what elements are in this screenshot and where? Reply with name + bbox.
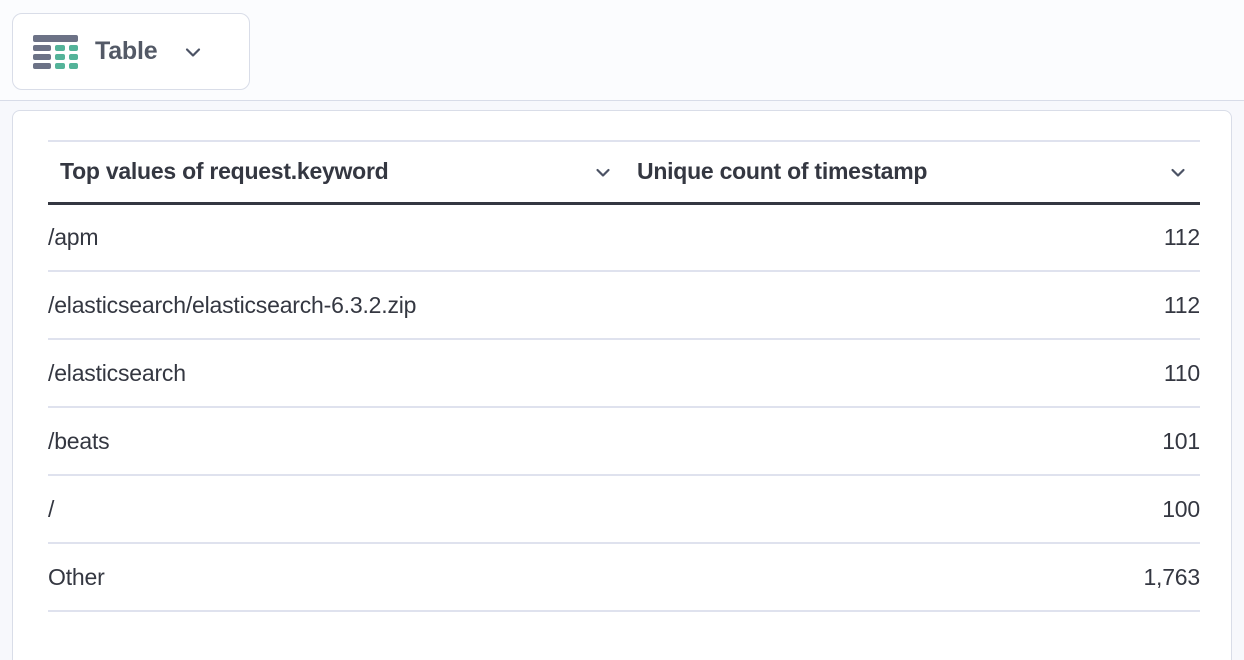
table-row[interactable]: /beats 101	[48, 407, 1200, 475]
cell-term: /elasticsearch/elasticsearch-6.3.2.zip	[48, 271, 625, 339]
cell-value: 100	[625, 475, 1200, 543]
cell-term: /	[48, 475, 625, 543]
table-icon-header-bar	[33, 35, 78, 42]
cell-term: /apm	[48, 203, 625, 271]
table-icon-cell	[55, 63, 64, 69]
visualization-type-label: Table	[95, 37, 157, 66]
table-icon-cell	[69, 54, 78, 60]
chevron-down-icon[interactable]	[1166, 160, 1190, 184]
cell-value: 1,763	[625, 543, 1200, 611]
cell-value: 112	[625, 271, 1200, 339]
data-table: Top values of request.keyword Unique cou…	[48, 140, 1200, 612]
chevron-down-icon[interactable]	[591, 160, 615, 184]
table-icon-cell	[69, 45, 78, 51]
table-icon-row	[33, 54, 78, 60]
table-row[interactable]: Other 1,763	[48, 543, 1200, 611]
table-icon-row	[33, 63, 78, 69]
column-header-value[interactable]: Unique count of timestamp	[625, 141, 1200, 203]
cell-term: Other	[48, 543, 625, 611]
table-icon	[33, 35, 78, 69]
table-row[interactable]: / 100	[48, 475, 1200, 543]
table-body: /apm 112 /elasticsearch/elasticsearch-6.…	[48, 203, 1200, 611]
visualization-toolbar: Table	[0, 0, 1244, 101]
column-header-term-label: Top values of request.keyword	[60, 158, 581, 185]
visualization-panel: Top values of request.keyword Unique cou…	[12, 110, 1232, 660]
table-row[interactable]: /apm 112	[48, 203, 1200, 271]
cell-value: 110	[625, 339, 1200, 407]
table-header: Top values of request.keyword Unique cou…	[48, 141, 1200, 203]
cell-value: 101	[625, 407, 1200, 475]
table-icon-cell	[69, 63, 78, 69]
app-root: Table Top values of request.keyword	[0, 0, 1244, 660]
chevron-down-icon	[180, 39, 206, 65]
cell-term: /elasticsearch	[48, 339, 625, 407]
visualization-type-button[interactable]: Table	[12, 13, 250, 90]
table-row[interactable]: /elasticsearch/elasticsearch-6.3.2.zip 1…	[48, 271, 1200, 339]
column-header-term[interactable]: Top values of request.keyword	[48, 141, 625, 203]
cell-value: 112	[625, 203, 1200, 271]
table-icon-row	[33, 45, 78, 51]
table-container: Top values of request.keyword Unique cou…	[48, 140, 1200, 612]
column-header-value-label: Unique count of timestamp	[637, 158, 1156, 185]
table-icon-cell	[33, 45, 51, 51]
table-icon-cell	[33, 63, 51, 69]
table-header-row: Top values of request.keyword Unique cou…	[48, 141, 1200, 203]
table-icon-cell	[33, 54, 51, 60]
table-row[interactable]: /elasticsearch 110	[48, 339, 1200, 407]
table-icon-cell	[55, 54, 64, 60]
cell-term: /beats	[48, 407, 625, 475]
table-icon-cell	[55, 45, 64, 51]
